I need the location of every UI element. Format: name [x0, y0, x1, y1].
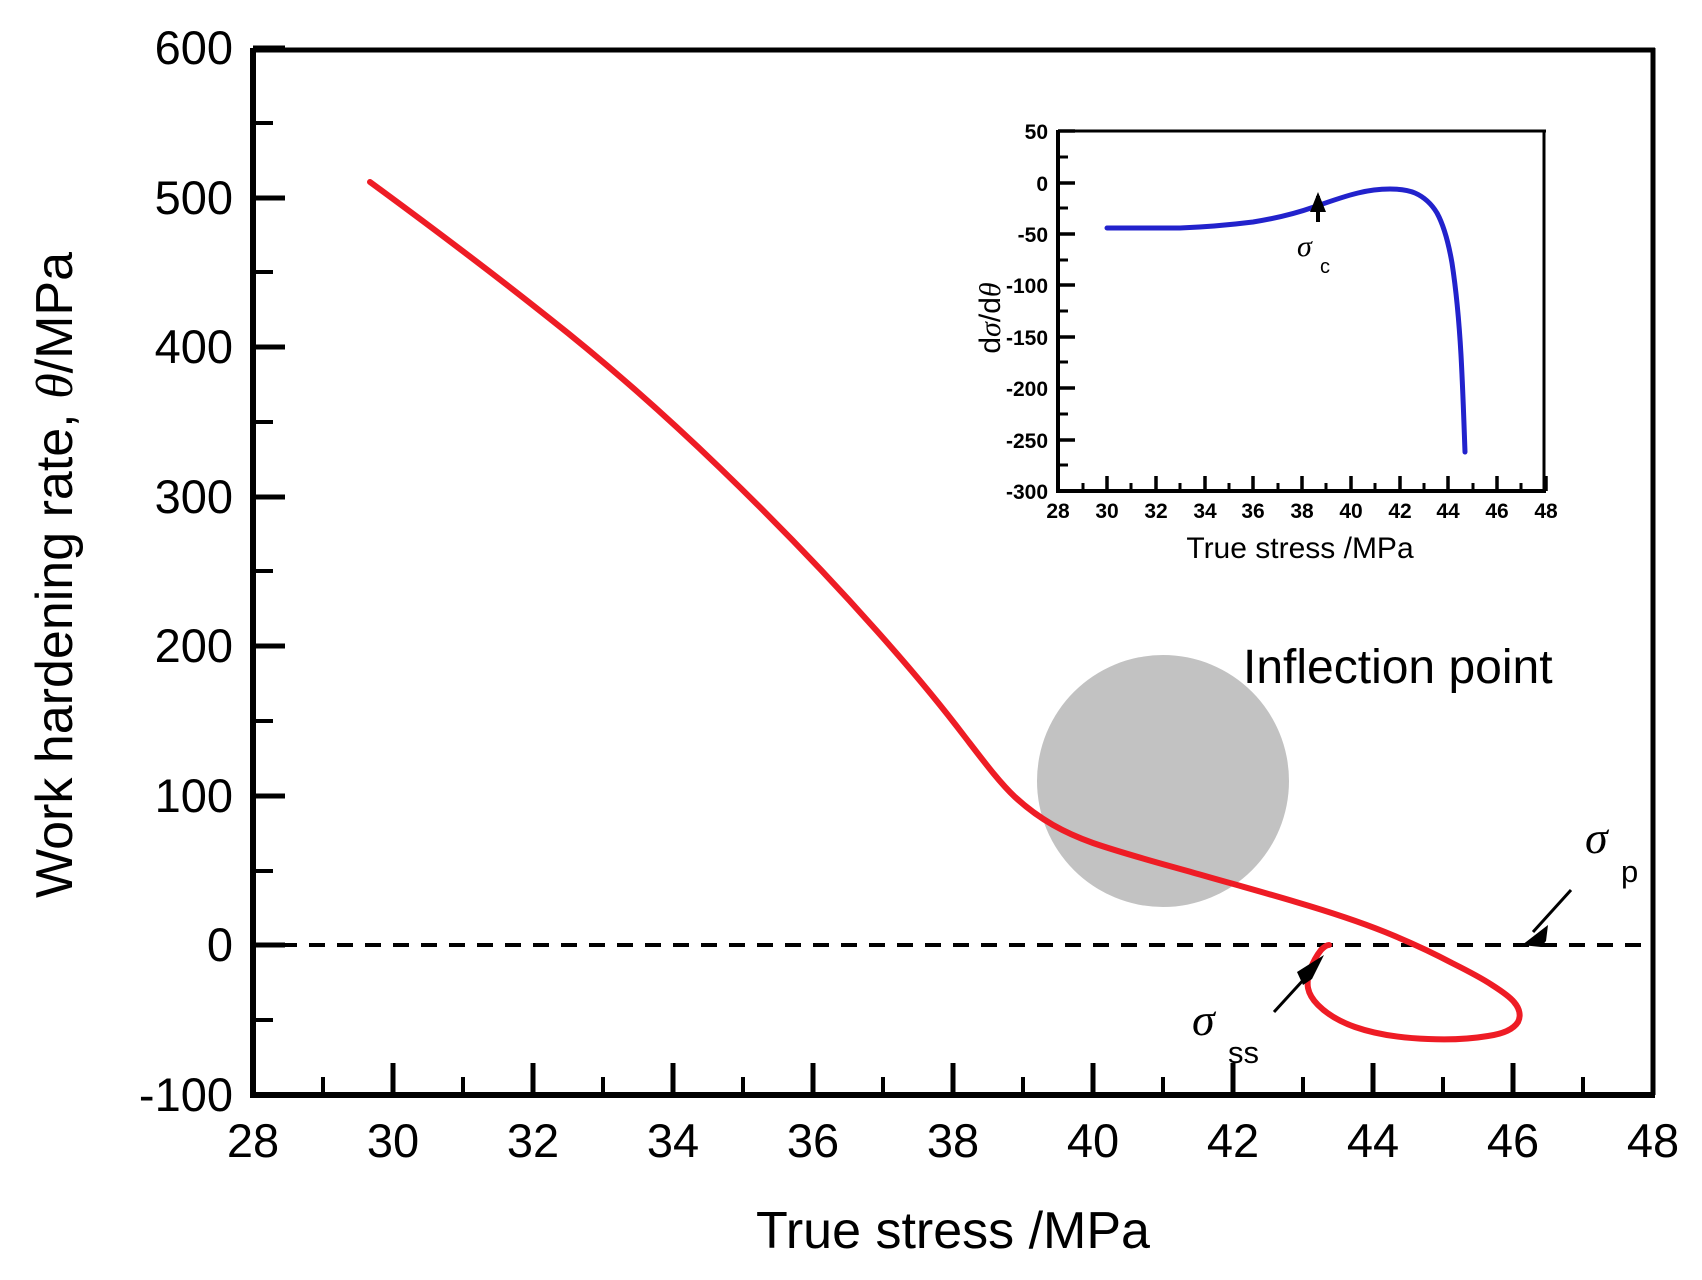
inset-x-tick-label: 44	[1436, 500, 1460, 523]
main-x-tick-label: 32	[507, 1114, 559, 1167]
main-y-tick-label: 600	[155, 21, 233, 74]
sigma-c-symbol: σ	[1297, 230, 1313, 263]
chart-svg: 600 500 400 300 200 100 0 -100 28 30 32 …	[0, 0, 1702, 1280]
main-x-tick-label: 44	[1347, 1114, 1399, 1167]
main-y-tick-label: 400	[155, 320, 233, 373]
main-y-tick-label: 100	[155, 769, 233, 822]
inset-x-tick-label: 34	[1193, 500, 1217, 523]
main-x-tick-label: 36	[787, 1114, 839, 1167]
inset-x-tick-label: 36	[1241, 500, 1264, 523]
main-x-tick-label: 34	[647, 1114, 699, 1167]
sigma-c-subscript: c	[1320, 256, 1330, 278]
main-y-tick-label: 200	[155, 619, 233, 672]
main-y-tick-label: 300	[155, 470, 233, 523]
main-y-tick-label: 0	[207, 918, 233, 971]
inset-y-tick-label: -100	[1006, 275, 1048, 298]
inset-x-tick-label: 40	[1339, 500, 1362, 523]
inset-x-tick-label: 30	[1095, 500, 1118, 523]
inset-x-tick-label: 46	[1485, 500, 1508, 523]
inset-y-tick-label: -300	[1006, 481, 1048, 504]
inset-y-tick-label: -200	[1006, 378, 1048, 401]
main-y-axis-title-prefix: Work hardening rate,	[26, 399, 84, 898]
main-x-axis-title: True stress /MPa	[756, 1202, 1150, 1260]
main-y-axis-title-theta: θ	[27, 373, 84, 399]
inset-x-tick-label: 38	[1290, 500, 1314, 523]
inset-x-tick-label: 48	[1534, 500, 1558, 523]
main-x-tick-label: 40	[1067, 1114, 1119, 1167]
inflection-point-label: Inflection point	[1243, 641, 1553, 694]
figure-container: 600 500 400 300 200 100 0 -100 28 30 32 …	[0, 0, 1702, 1280]
inset-y-axis-title-d1: d	[974, 337, 1007, 354]
sigma-ss-subscript: ss	[1228, 1035, 1259, 1070]
main-x-tick-label: 48	[1627, 1114, 1679, 1167]
sigma-p-symbol: σ	[1585, 812, 1610, 863]
main-x-tick-label: 42	[1207, 1114, 1259, 1167]
inset-y-axis-title: dσ/dθ	[974, 282, 1007, 354]
inset-y-axis-title-theta: θ	[974, 282, 1007, 297]
main-y-axis-title-suffix: /MPa	[26, 252, 84, 373]
main-x-tick-label: 46	[1487, 1114, 1539, 1167]
inset-y-axis-title-sigma: σ	[974, 321, 1007, 337]
sigma-p-subscript: p	[1621, 854, 1638, 889]
main-y-axis-title: Work hardening rate, θ/MPa	[26, 252, 84, 898]
inset-y-axis-title-d2: /d	[974, 297, 1007, 322]
main-y-tick-label: -100	[139, 1068, 233, 1121]
inset-y-tick-label: -150	[1006, 327, 1048, 350]
main-x-tick-label: 30	[367, 1114, 419, 1167]
inset-y-tick-label: -250	[1006, 430, 1048, 453]
inset-x-tick-label: 42	[1388, 500, 1411, 523]
svg-text:dσ/dθ: dσ/dθ	[974, 282, 1007, 354]
inset-y-tick-label: 0	[1036, 173, 1048, 196]
inset-x-tick-label: 32	[1144, 500, 1167, 523]
inset-x-axis-title: True stress /MPa	[1186, 532, 1414, 565]
inset-x-tick-label: 28	[1046, 500, 1070, 523]
main-y-tick-label: 500	[155, 171, 233, 224]
main-x-tick-label: 38	[927, 1114, 979, 1167]
inset-y-tick-label: 50	[1025, 121, 1048, 144]
inset-y-tick-label: -50	[1018, 224, 1048, 247]
main-x-tick-label: 28	[227, 1114, 279, 1167]
svg-text:Work hardening rate, θ/MPa: Work hardening rate, θ/MPa	[26, 252, 84, 898]
sigma-ss-symbol: σ	[1192, 994, 1217, 1045]
